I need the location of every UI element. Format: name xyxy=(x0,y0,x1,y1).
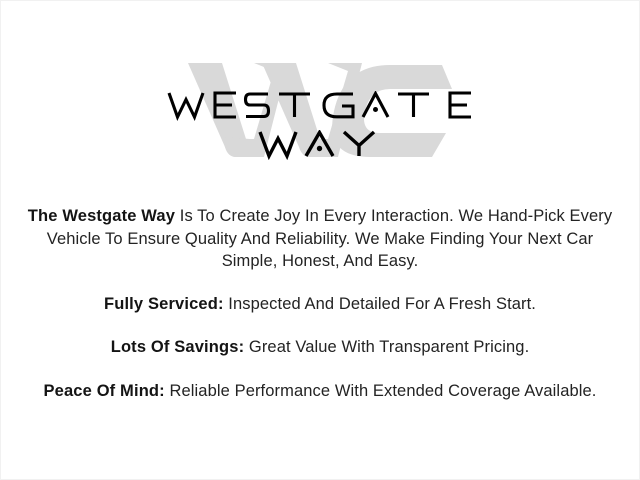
copy-section: The Westgate Way Is To Create Joy In Eve… xyxy=(1,187,639,402)
feature-item-peace-of-mind: Peace Of Mind: Reliable Performance With… xyxy=(17,380,623,403)
feature-item-fully-serviced: Fully Serviced: Inspected And Detailed F… xyxy=(17,293,623,316)
promo-card: The Westgate Way Is To Create Joy In Eve… xyxy=(0,0,640,480)
feature-item-lots-of-savings: Lots Of Savings: Great Value With Transp… xyxy=(17,336,623,359)
feature-lead: Fully Serviced: xyxy=(104,295,224,313)
spacer xyxy=(17,359,623,380)
intro-paragraph: The Westgate Way Is To Create Joy In Eve… xyxy=(17,205,623,273)
feature-body: Reliable Performance With Extended Cover… xyxy=(165,382,597,400)
feature-lead: Lots Of Savings: xyxy=(111,338,245,356)
spacer xyxy=(17,187,623,205)
feature-body: Great Value With Transparent Pricing. xyxy=(244,338,529,356)
feature-lead: Peace Of Mind: xyxy=(44,382,165,400)
brand-logo-block xyxy=(1,1,639,187)
wordmark-way xyxy=(258,130,382,160)
spacer xyxy=(17,273,623,293)
spacer xyxy=(17,315,623,336)
feature-body: Inspected And Detailed For A Fresh Start… xyxy=(224,295,536,313)
intro-lead: The Westgate Way xyxy=(28,207,175,225)
wordmark-westgate xyxy=(167,91,473,121)
